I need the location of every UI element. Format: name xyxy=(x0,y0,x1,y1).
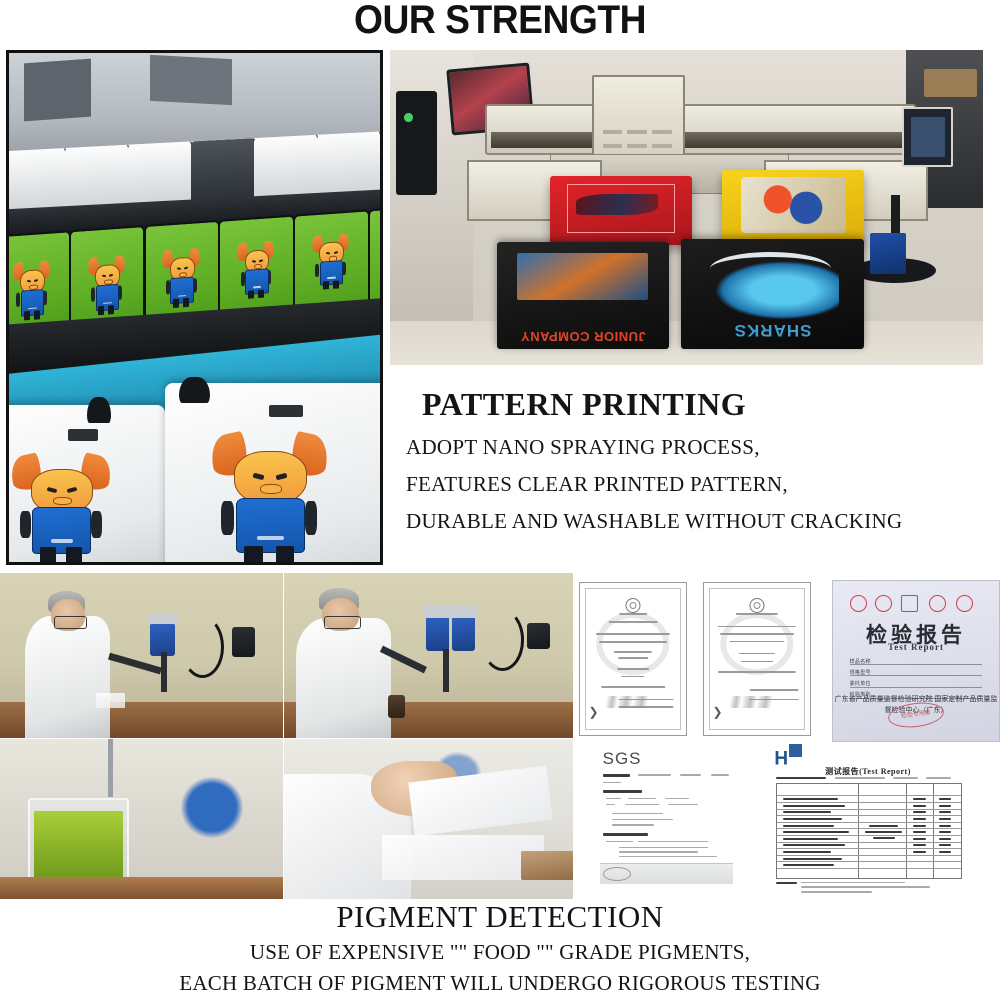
bull-mascot-graphic xyxy=(16,453,105,558)
photo-chemist-dispensing xyxy=(284,573,573,738)
certificate-iso-2: ❯ xyxy=(703,582,811,736)
shirt-artwork xyxy=(706,257,838,321)
pattern-printing-line-3: DURABLE AND WASHABLE WITHOUT CRACKING xyxy=(390,509,1000,534)
print-head-carriage xyxy=(592,75,685,164)
background-equipment xyxy=(181,777,243,838)
power-led xyxy=(404,113,412,122)
shirt-text-sharks: SHARKS xyxy=(688,320,857,340)
lab-coat xyxy=(25,616,110,738)
control-box xyxy=(396,91,438,195)
printed-shirt-red xyxy=(550,176,692,245)
printed-shirt-front-right xyxy=(165,383,380,562)
sgs-stamp xyxy=(603,867,631,881)
photo-dtg-flatbed-printer: JUNIOR COMPANY SHARKS xyxy=(390,50,983,365)
shelf-box xyxy=(924,69,977,97)
shirt-text-junior-company: JUNIOR COMPANY xyxy=(504,330,662,343)
h-report-title: 测试报告(Test Report) xyxy=(764,766,972,777)
pattern-printing-line-1: ADOPT NANO SPRAYING PROCESS, xyxy=(390,435,1000,460)
certificate-iso-1: ❯ xyxy=(579,582,687,736)
page-title: OUR STRENGTH xyxy=(35,0,965,42)
photo-chemist-pipetting xyxy=(0,573,283,738)
shirt-brand-tag xyxy=(68,429,98,441)
shirt-artwork xyxy=(741,177,846,234)
blue-bin xyxy=(870,233,906,274)
shirt-brand-tag xyxy=(269,405,302,417)
printed-shirt-yellow xyxy=(722,170,864,242)
sgs-logo: SGS xyxy=(603,749,642,769)
photo-screen-printing-carousel xyxy=(6,50,383,565)
printed-shirt-front-left xyxy=(9,405,165,562)
screenprint-scene xyxy=(9,53,380,562)
cn-report-subtitle: Test Report xyxy=(833,642,999,652)
photo-hands-test-swatch xyxy=(284,739,573,899)
printer-control-panel[interactable] xyxy=(902,107,953,168)
pigment-detection-line-1: USE OF EXPENSIVE "" FOOD "" GRADE PIGMEN… xyxy=(0,940,1000,965)
printer-rail xyxy=(491,132,906,148)
pigment-detection-line-2: EACH BATCH OF PIGMENT WILL UNDERGO RIGOR… xyxy=(0,971,1000,996)
cert-mark: ❯ xyxy=(588,705,598,720)
bull-mascot-graphic xyxy=(217,431,321,559)
lab-coat xyxy=(296,618,391,738)
pigment-detection-text-block: PIGMENT DETECTION USE OF EXPENSIVE "" FO… xyxy=(0,900,1000,996)
test-report-sgs: SGS xyxy=(592,746,744,894)
photo-grid-laboratory xyxy=(0,573,573,899)
certificate-test-report-cn: 检验报告 Test Report 样品名称 规格型号 委托单位 检验类别 广东省… xyxy=(832,580,1000,742)
paper-stack xyxy=(382,835,544,880)
printed-shirt-sharks: SHARKS xyxy=(681,239,865,349)
printer-room: JUNIOR COMPANY SHARKS xyxy=(390,50,983,365)
pattern-printing-line-2: FEATURES CLEAR PRINTED PATTERN, xyxy=(390,472,1000,497)
shirt-artwork xyxy=(517,253,648,300)
shirt-artwork xyxy=(576,194,659,215)
printed-shirt-junior-company: JUNIOR COMPANY xyxy=(497,242,669,349)
pattern-printing-heading: PATTERN PRINTING xyxy=(390,386,1000,423)
cert-mark: ❯ xyxy=(712,705,722,720)
test-report-h: H 测试报告(Test Report) xyxy=(764,742,972,894)
pigment-detection-heading: PIGMENT DETECTION xyxy=(0,900,1000,934)
certificates-and-reports: ❯ ❯ 检验报告 Test Report 样品名称 规格型号 委托单位 检验类别… xyxy=(578,578,1000,898)
h-results-table xyxy=(776,783,961,879)
photo-pigment-beaker xyxy=(0,739,283,899)
pattern-printing-text-block: PATTERN PRINTING ADOPT NANO SPRAYING PRO… xyxy=(390,386,1000,534)
